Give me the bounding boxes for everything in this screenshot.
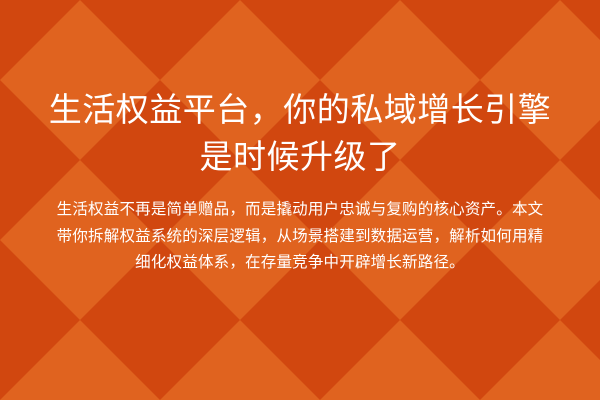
page-title: 生活权益平台，你的私域增长引擎是时候升级了 [0, 86, 600, 180]
page-subtitle: 生活权益不再是简单赠品，而是撬动用户忠诚与复购的核心资产。本文带你拆解权益系统的… [0, 197, 600, 277]
banner-content: 生活权益平台，你的私域增长引擎是时候升级了 生活权益不再是简单赠品，而是撬动用户… [0, 0, 600, 277]
article-cover-banner: 生活权益平台，你的私域增长引擎是时候升级了 生活权益不再是简单赠品，而是撬动用户… [0, 0, 600, 400]
